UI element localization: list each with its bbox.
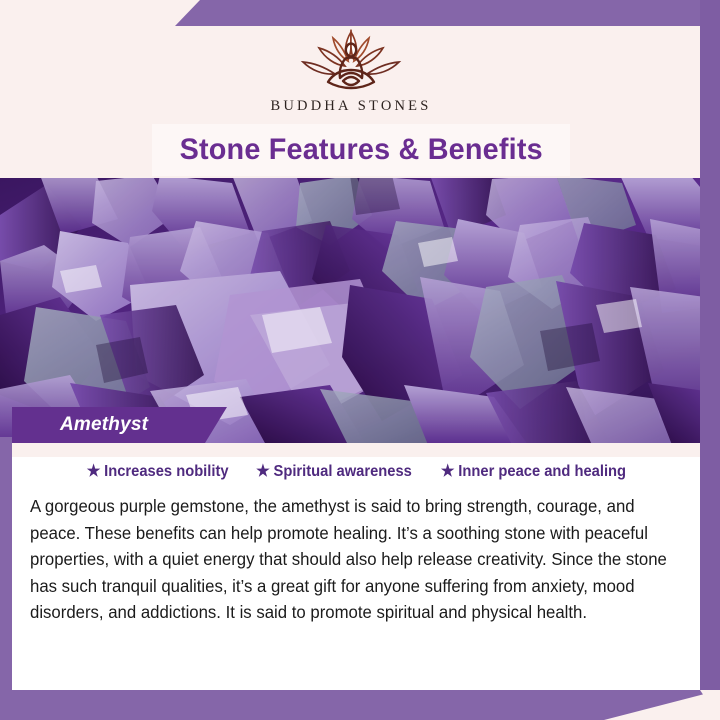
star-icon: ★ (256, 464, 270, 480)
frame-bottom-accent (0, 690, 720, 720)
benefit-item-3: ★ Inner peace and healing (441, 463, 626, 481)
frame-left-accent (0, 437, 12, 705)
stone-name-banner: Amethyst (12, 407, 227, 443)
brand-name: BUDDHA STONES (271, 98, 432, 115)
stone-description: A gorgeous purple gemstone, the amethyst… (30, 493, 674, 626)
stone-benefits-infographic: BUDDHA STONES Stone Features & Benefits (0, 0, 720, 720)
frame-right-accent (700, 0, 720, 690)
star-icon: ★ (441, 464, 455, 480)
stone-name-label: Amethyst (60, 414, 148, 436)
brand-logo: BUDDHA STONES (0, 26, 702, 115)
content-panel: ★ Increases nobility ★ Spiritual awarene… (12, 443, 702, 690)
benefit-label: Increases nobility (104, 463, 228, 481)
panel-top-band (12, 443, 702, 457)
amethyst-hero-image (0, 175, 720, 445)
benefit-item-1: ★ Increases nobility (87, 463, 229, 481)
benefit-label: Inner peace and healing (458, 463, 626, 481)
page-title-box: Stone Features & Benefits (152, 124, 570, 176)
page-title: Stone Features & Benefits (179, 133, 542, 167)
star-icon: ★ (87, 464, 101, 480)
benefit-item-2: ★ Spiritual awareness (256, 463, 412, 481)
amethyst-crystal-illustration (0, 175, 720, 445)
lotus-meditation-icon (295, 26, 407, 94)
benefit-label: Spiritual awareness (274, 463, 412, 481)
benefits-list: ★ Increases nobility ★ Spiritual awarene… (12, 463, 702, 481)
